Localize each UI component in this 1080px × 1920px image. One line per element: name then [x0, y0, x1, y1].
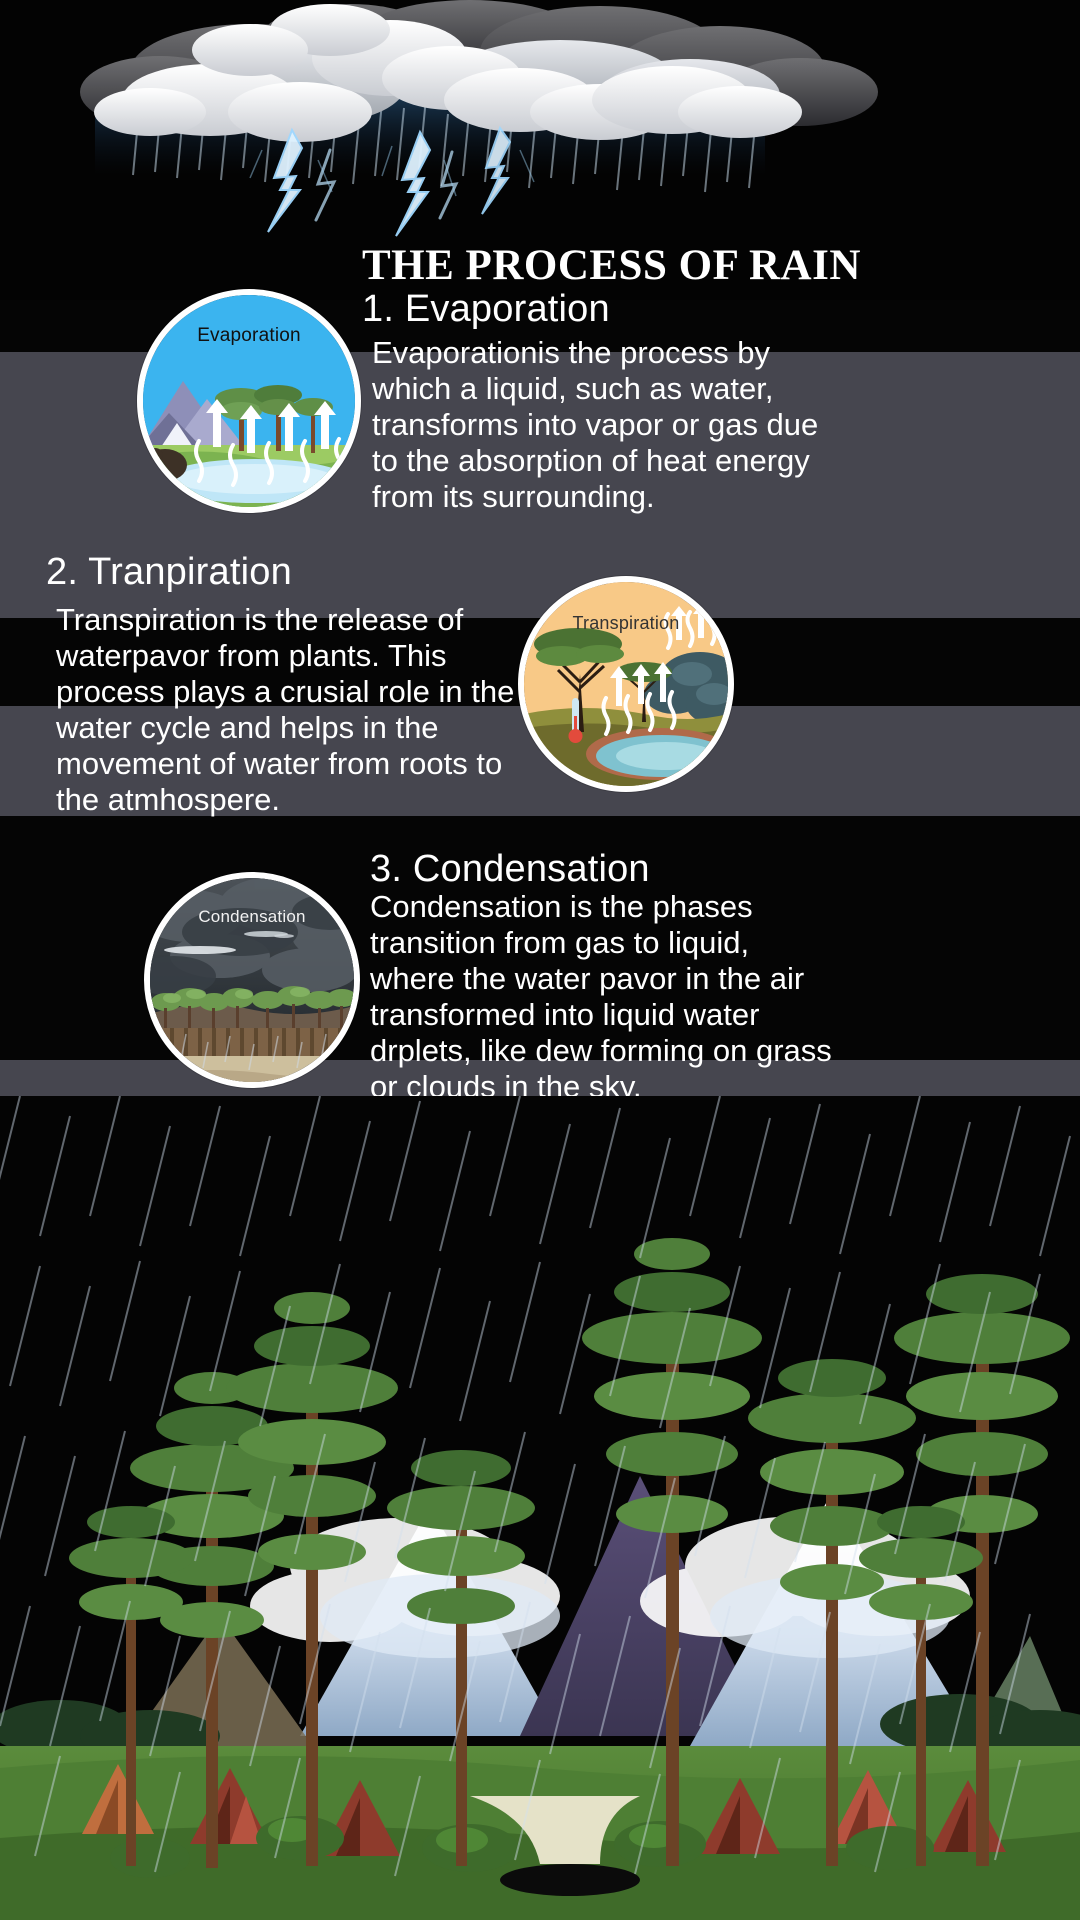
para-line: process plays a crusial role in the: [56, 674, 536, 710]
para-line: Condensation is the phases: [370, 889, 870, 925]
para-line: transformed into liquid water: [370, 997, 870, 1033]
transpiration-circle-label: Transpiration: [524, 613, 728, 634]
para-line: which a liquid, such as water,: [372, 371, 852, 407]
para-line: Evaporationis the process by: [372, 335, 852, 371]
para-line: waterpavor from plants. This: [56, 638, 536, 674]
rainy-forest-illustration: [0, 1096, 1080, 1920]
para-line: to the absorption of heat energy: [372, 443, 852, 479]
para-line: movement of water from roots to: [56, 746, 536, 782]
condensation-circle-label: Condensation: [150, 907, 354, 927]
condensation-illustration: Condensation: [144, 872, 360, 1088]
transpiration-illustration: Transpiration: [518, 576, 734, 792]
para-line: where the water pavor in the air: [370, 961, 870, 997]
evaporation-illustration: Evaporation: [137, 289, 361, 513]
para-line: Transpiration is the release of: [56, 602, 536, 638]
section-3-heading: 3. Condensation: [370, 848, 650, 892]
evaporation-circle-label: Evaporation: [143, 325, 355, 347]
section-2-heading: 2. Tranpiration: [46, 551, 292, 595]
para-line: transforms into vapor or gas due: [372, 407, 852, 443]
page-title: THE PROCESS OF RAIN: [362, 243, 982, 288]
section-2-paragraph: Transpiration is the release of waterpav…: [56, 602, 536, 818]
para-line: from its surrounding.: [372, 479, 852, 515]
para-line: transition from gas to liquid,: [370, 925, 870, 961]
para-line: water cycle and helps in the: [56, 710, 536, 746]
infographic-poster: THE PROCESS OF RAIN: [0, 0, 1080, 1920]
para-line: drplets, like dew forming on grass: [370, 1033, 870, 1069]
para-line: the atmhospere.: [56, 782, 536, 818]
section-1-heading: 1. Evaporation: [362, 288, 610, 332]
section-1-paragraph: Evaporationis the process by which a liq…: [372, 335, 852, 515]
section-3-paragraph: Condensation is the phases transition fr…: [370, 889, 870, 1105]
